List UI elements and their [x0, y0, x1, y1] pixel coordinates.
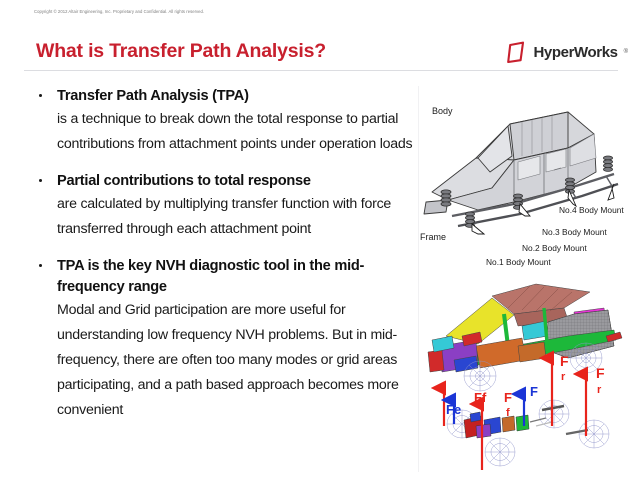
force-label-f-front: F: [504, 390, 512, 405]
copyright-notice: Copyright © 2012 Altair Engineering, Inc…: [34, 9, 204, 14]
figure-label-mount-1: No.1 Body Mount: [486, 257, 551, 267]
bullet-list: Transfer Path Analysis (TPA) is a techni…: [0, 86, 420, 437]
hyperworks-logo-icon: [507, 41, 527, 63]
slide: Copyright © 2012 Altair Engineering, Inc…: [0, 0, 640, 480]
force-label-f-rear-2: F: [596, 365, 605, 381]
hyperworks-trademark-symbol: ®: [624, 49, 628, 55]
bullet-heading: Partial contributions to total response: [57, 171, 420, 192]
figure-label-mount-2: No.2 Body Mount: [522, 243, 587, 253]
hyperworks-logo: HyperWorks ®: [507, 40, 628, 64]
list-item: TPA is the key NVH diagnostic tool in th…: [0, 256, 420, 423]
force-label-f-rear-1-sub: r: [561, 371, 566, 383]
force-label-f-front-sub: f: [506, 407, 510, 419]
bullet-heading: Transfer Path Analysis (TPA): [57, 86, 420, 107]
force-label-fe: Fe: [446, 402, 461, 417]
figure-label-mount-4: No.4 Body Mount: [559, 205, 624, 215]
force-label-f-blue: F: [530, 384, 538, 399]
hyperworks-logo-text: HyperWorks: [533, 44, 617, 61]
bullet-body: are calculated by multiplying transfer f…: [57, 192, 420, 242]
body-frame-vehicle-figure: Body Frame No.4 Body Mount No.3 Body Mou…: [418, 88, 640, 268]
figure-label-body: Body: [432, 106, 453, 116]
figure-label-mount-3: No.3 Body Mount: [542, 227, 607, 237]
title-divider: [24, 70, 618, 71]
bullet-body: is a technique to break down the total r…: [57, 107, 420, 157]
list-item: Transfer Path Analysis (TPA) is a techni…: [0, 86, 420, 157]
bullet-marker-icon: [39, 264, 42, 267]
bullet-heading: TPA is the key NVH diagnostic tool in th…: [57, 256, 420, 298]
force-label-f-rear-1: F: [560, 353, 569, 369]
figure-column: Body Frame No.4 Body Mount No.3 Body Mou…: [418, 78, 640, 478]
bullet-marker-icon: [39, 94, 42, 97]
list-item: Partial contributions to total response …: [0, 171, 420, 242]
bullet-body: Modal and Grid participation are more us…: [57, 298, 420, 423]
figure-label-frame: Frame: [420, 232, 446, 242]
force-label-ff: Ff: [474, 390, 487, 405]
bullet-marker-icon: [39, 179, 42, 182]
force-label-f-rear-2-sub: r: [597, 384, 602, 396]
page-title: What is Transfer Path Analysis?: [36, 40, 326, 63]
fe-model-force-figure: Ff Fe F f F F r F r: [418, 274, 640, 479]
